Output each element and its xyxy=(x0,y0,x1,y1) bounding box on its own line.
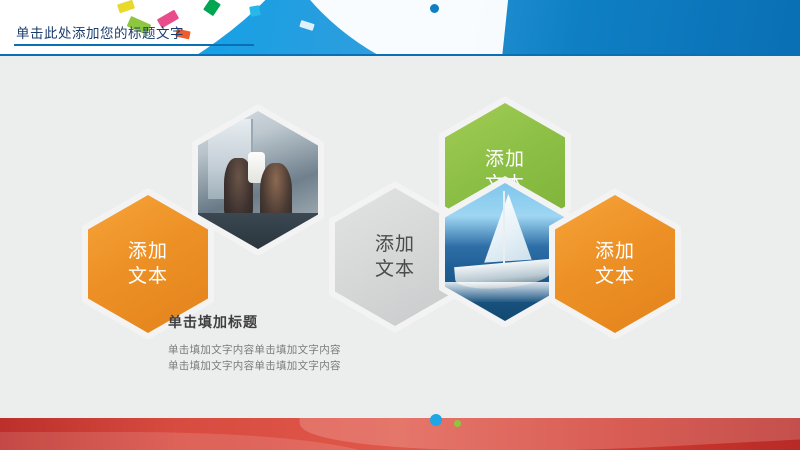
hex-gray-center-label-line2: 文本 xyxy=(375,257,415,282)
hex-orange-left-label: 添加 文本 xyxy=(128,239,168,289)
confetti-cyan-icon xyxy=(249,5,261,17)
slide-canvas: 单击此处添加您的标题文字 添加 文本 添加 文本 xyxy=(0,0,800,450)
hex-orange-right-label-line2: 文本 xyxy=(595,264,635,289)
hex-gray-center-label-line1: 添加 xyxy=(375,232,415,257)
slide-footer-band xyxy=(0,418,800,450)
hex-orange-left-label-line1: 添加 xyxy=(128,239,168,264)
slide-title-underline xyxy=(14,44,254,46)
photo-mast-shape xyxy=(503,191,505,271)
hex-orange-left-label-line2: 文本 xyxy=(128,264,168,289)
banner-white-swoosh-secondary xyxy=(240,0,521,56)
photo-sail-shape xyxy=(481,194,534,269)
body-text-block: 单击填加标题 单击填加文字内容单击填加文字内容 单击填加文字内容单击填加文字内容 xyxy=(168,312,468,374)
hex-orange-right-label-line1: 添加 xyxy=(595,239,635,264)
slide-title: 单击此处添加您的标题文字 xyxy=(16,22,184,42)
hex-green-top-label-line1: 添加 xyxy=(485,147,525,172)
hex-gray-center-label: 添加 文本 xyxy=(375,232,415,282)
body-line-2: 单击填加文字内容单击填加文字内容 xyxy=(168,358,468,374)
footer-green-dot-icon xyxy=(454,420,461,427)
confetti-blue-dot-icon xyxy=(430,4,439,13)
footer-blue-dot-icon xyxy=(430,414,442,426)
body-heading: 单击填加标题 xyxy=(168,312,468,332)
body-line-1: 单击填加文字内容单击填加文字内容 xyxy=(168,342,468,358)
hex-orange-right-label: 添加 文本 xyxy=(595,239,635,289)
confetti-white-icon xyxy=(299,20,314,31)
